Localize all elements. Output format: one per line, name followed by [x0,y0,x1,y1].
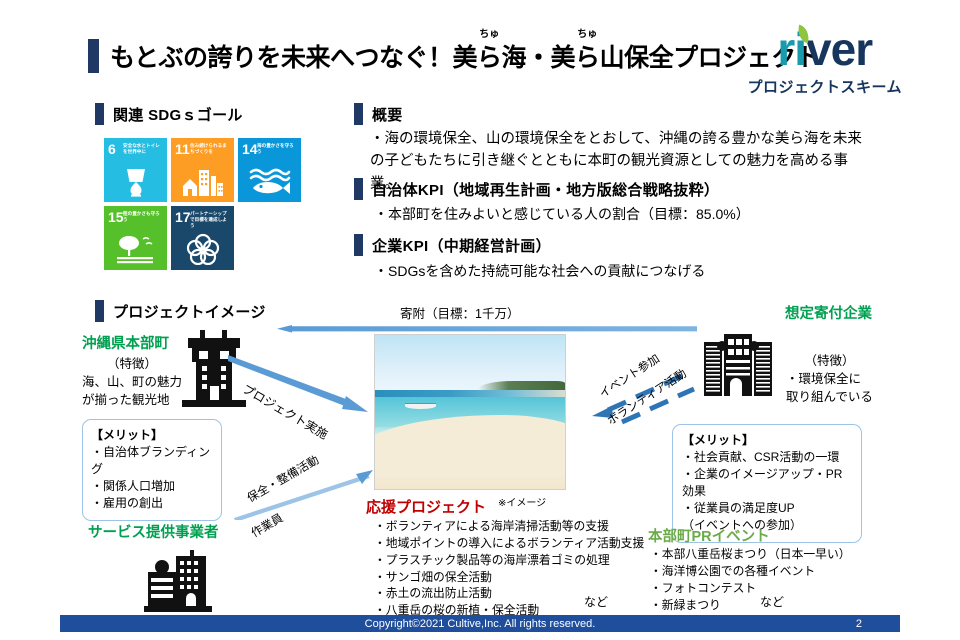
corporation-merit-2: ・企業のイメージアップ・PR効果 [682,466,852,500]
service-provider-building-icon [140,550,216,612]
town-merit-box: 【メリット】 ・自治体ブランディング ・関係人口増加 ・雇用の創出 [82,419,222,521]
kpi-corp-heading-text: 企業KPI（中期経営計画） [372,235,551,256]
donation-arrow-label: 寄附（目標：1千万） [400,303,519,322]
logo-letter-r2: r [855,23,872,75]
town-feature-line-2: が揃った観光地 [82,391,182,409]
partnership-circles-icon [171,227,234,270]
town-title: 沖縄県本部町 [82,332,169,353]
sdg-goal-15-number: 15 [108,210,124,224]
city-buildings-icon [171,159,234,202]
kpi-corp-body: ・SDGsを含めた持続可能な社会への貢献につなげる [374,261,705,281]
support-project-title: 応援プロジェクト [366,496,486,517]
logo-letter-r1: r [777,23,794,75]
donation-arrow [277,325,697,333]
kpi-corp-accent-bar [354,234,363,256]
fish-waves-icon [238,159,301,202]
sdg-accent-bar [95,103,104,125]
sdg-goal-15-label: 陸の豊かさも守ろう [123,211,164,223]
corporation-feature-line-1: ・環境保全に [786,370,873,388]
town-merit-1: ・自治体ブランディング [91,444,213,478]
kpi-local-accent-bar [354,178,363,200]
title-part-2: 海・美 [502,44,576,72]
support-project-item-4: ・サンゴ畑の保全活動 [374,569,644,586]
town-merit-2: ・関係人口増加 [91,478,213,495]
town-merit-3: ・雇用の創出 [91,495,213,512]
corporation-feature-head: （特徴） [786,352,873,370]
ruby-text-2: ちゅ [577,25,597,40]
sdg-heading-text: 関連 SDGｓゴール [113,104,243,125]
footer-copyright: Copyright©2021 Cultive,Inc. All rights r… [365,618,596,630]
sdg-goal-14: 14 海の豊かさを守ろう [238,138,301,202]
town-features: （特徴） 海、山、町の魅力 が揃った観光地 [82,355,182,409]
river-logo: river プロジェクトスキーム [747,26,902,97]
page-number: 2 [856,618,862,630]
title-part-1: もとぶの誇りを未来へつなぐ！美 [110,44,477,72]
photo-note: ※イメージ [498,494,546,509]
support-project-nado: など [584,593,608,610]
overview-heading: 概要 [354,103,403,125]
ruby-group-2: ちゅら [575,38,600,74]
photo-boat [405,403,435,409]
sdg-goal-11-label: 住み続けられるまちづくりを [190,143,231,155]
kpi-local-body: ・本部町を住みよいと感じている人の割合（目標：85.0%） [374,204,750,224]
pr-events-title: 本部町PRイベント [648,525,770,546]
corporation-merit-1: ・社会貢献、CSR活動の一環 [682,449,852,466]
kpi-corp-heading: 企業KPI（中期経営計画） [354,234,551,256]
ruby-text-1: ちゅ [479,25,499,40]
footer-bar: Copyright©2021 Cultive,Inc. All rights r… [60,615,900,632]
sdg-goal-14-label: 海の豊かさを守ろう [257,143,298,155]
pr-events-list: ・本部八重岳桜まつり（日本一早い） ・海洋博公園での各種イベント ・フォトコンテ… [650,546,851,614]
service-provider-title: サービス提供事業者 [88,521,219,542]
corporation-merit-head: 【メリット】 [682,432,852,449]
pr-event-item-3: ・フォトコンテスト [650,580,851,597]
page-title: もとぶの誇りを未来へつなぐ！美ちゅら海・美ちゅら山保全プロジェクト [88,38,820,74]
logo-wordmark: river [747,26,902,72]
pr-events-nado: など [760,593,784,610]
sdg-goal-11-number: 11 [175,142,190,156]
logo-subtitle: プロジェクトスキーム [747,76,902,97]
pr-event-item-2: ・海洋博公園での各種イベント [650,563,851,580]
support-project-item-3: ・プラスチック製品等の海岸漂着ゴミの処理 [374,552,644,569]
project-image-heading: プロジェクトイメージ [95,300,266,322]
ruby-base-2: ら [575,44,600,72]
overview-heading-text: 概要 [372,104,403,125]
corporate-buildings-icon [698,330,778,398]
beach-photo [374,334,566,490]
town-feature-line-1: 海、山、町の魅力 [82,373,182,391]
project-image-accent-bar [95,300,104,322]
tree-birds-icon [104,227,167,270]
corporation-feature-line-2: 取り組んでいる [786,388,873,406]
title-text: もとぶの誇りを未来へつなぐ！美ちゅら海・美ちゅら山保全プロジェクト [110,38,820,74]
kpi-local-heading-text: 自治体KPI（地域再生計画・地方版総合戦略抜粋） [372,179,719,200]
pr-event-item-1: ・本部八重岳桜まつり（日本一早い） [650,546,851,563]
ruby-base-1: ら [477,44,502,72]
sdg-goal-6: 6 安全な水とトイレを世界中に [104,138,167,202]
sdg-goal-17: 17 パートナーシップで目標を達成しよう [171,206,234,270]
water-glass-icon [104,159,167,202]
sdg-goal-6-label: 安全な水とトイレを世界中に [123,143,164,155]
sdg-section-heading: 関連 SDGｓゴール [95,103,243,125]
pr-event-item-4: ・新緑まつり [650,597,851,614]
project-image-heading-text: プロジェクトイメージ [113,301,266,322]
corporation-features: （特徴） ・環境保全に 取り組んでいる [786,352,873,406]
sdg-goal-grid: 6 安全な水とトイレを世界中に 11 住み続けられるまちづくりを [104,138,301,270]
town-feature-head: （特徴） [82,355,182,373]
overview-accent-bar [354,103,363,125]
corporation-title: 想定寄付企業 [785,302,872,323]
support-project-item-1: ・ボランティアによる海岸清掃活動等の支援 [374,518,644,535]
title-accent-bar [88,39,99,73]
sdg-goal-11: 11 住み続けられるまちづくりを [171,138,234,202]
sdg-goal-6-number: 6 [108,142,116,156]
photo-sand-curve [374,415,566,477]
support-project-item-2: ・地域ポイントの導入によるボランティア活動支援 [374,535,644,552]
town-merit-head: 【メリット】 [91,427,213,444]
corporation-merit-3: ・従業員の満足度UP [682,500,852,517]
kpi-local-heading: 自治体KPI（地域再生計画・地方版総合戦略抜粋） [354,178,719,200]
logo-letters-ve: ve [806,23,855,75]
sdg-goal-14-number: 14 [242,142,258,156]
sdg-goal-15: 15 陸の豊かさも守ろう [104,206,167,270]
ruby-group-1: ちゅら [477,38,502,74]
sdg-goal-17-number: 17 [175,210,191,224]
